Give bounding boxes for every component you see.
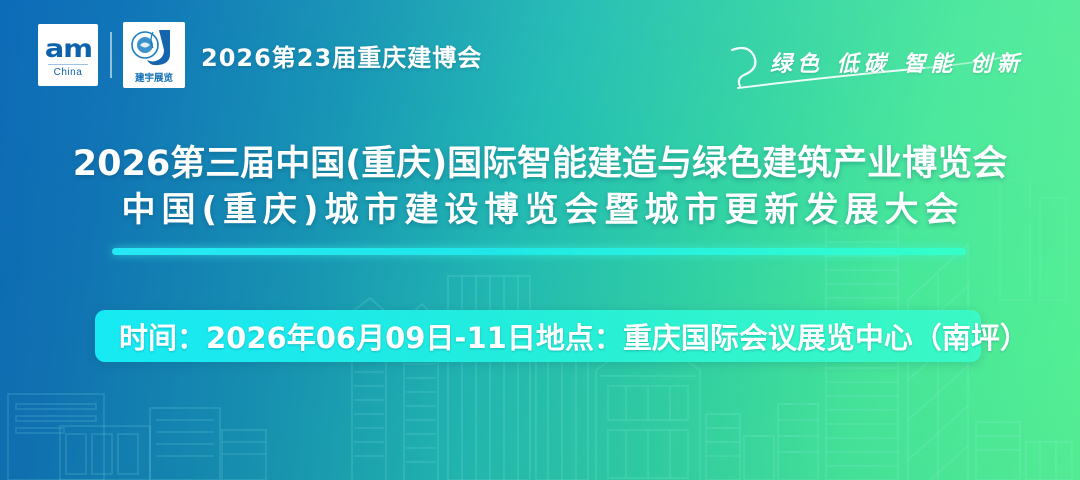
title-divider-rule [112,248,966,255]
slogan-text: 绿色 低碳 智能 创新 [770,46,1024,78]
am-logo-subtitle: China [54,67,83,78]
main-title-line-2: 中国(重庆)城市建设博览会暨城市更新发展大会 [0,187,1080,233]
event-date-text: 时间：2026年06月09日-11日 [119,315,536,357]
exhibition-banner: am China 建宇展览 2026第23届重庆建博会 绿色 低碳 智能 创新 [0,0,1080,480]
slogan-block: 绿色 低碳 智能 创新 [728,38,1028,100]
logo-divider [110,32,112,78]
am-china-logo[interactable]: am China [38,24,98,86]
jianyu-exhibition-logo[interactable]: 建宇展览 [123,22,185,88]
main-title-line-1: 2026第三届中国(重庆)国际智能建造与绿色建筑产业博览会 [0,142,1080,187]
am-logo-rule [48,64,88,65]
event-venue-text: 地点：重庆国际会议展览中心（南坪） [536,315,1029,357]
jianyu-swoosh-icon [123,24,185,72]
main-title-block: 2026第三届中国(重庆)国际智能建造与绿色建筑产业博览会 中国(重庆)城市建设… [0,142,1080,233]
event-info-bar: 时间：2026年06月09日-11日 地点：重庆国际会议展览中心（南坪） [95,310,981,362]
am-logo-mark: am [44,36,91,61]
jianyu-logo-text: 建宇展览 [123,70,185,84]
header-title: 2026第23届重庆建博会 [201,38,482,73]
